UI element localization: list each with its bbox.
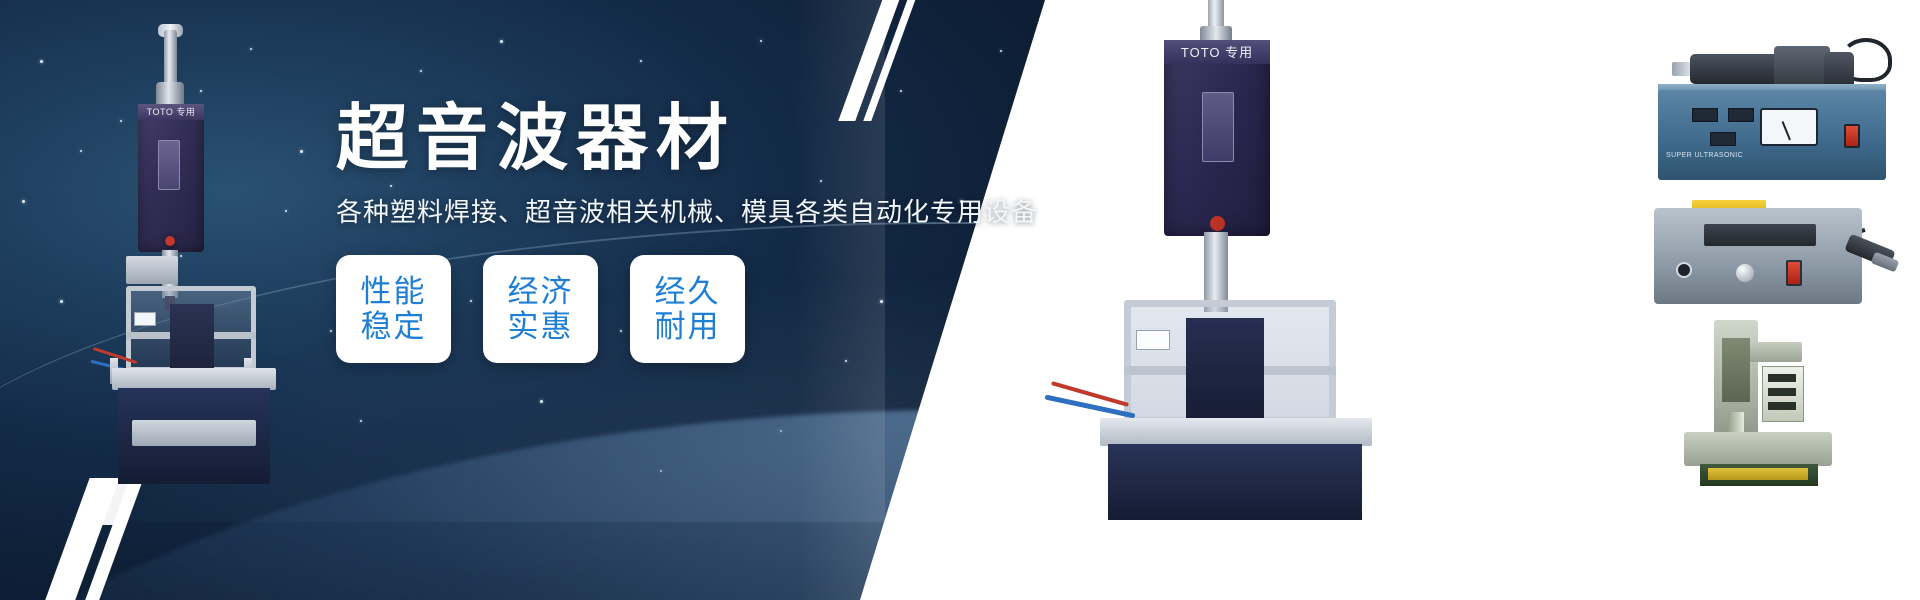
upper-fixture — [126, 256, 178, 284]
feature-badge-group: 性能 稳定 经济 实惠 经久 耐用 — [336, 255, 1036, 363]
transducer-rear — [1824, 52, 1854, 88]
badge-line-1: 经济 — [508, 274, 574, 309]
panel-sticker — [134, 312, 156, 326]
machine-table — [1100, 418, 1372, 446]
machine-brand-label: TOTO 专用 — [1168, 44, 1266, 62]
connector-port — [1676, 262, 1692, 278]
hand-gun-tip — [1871, 252, 1900, 273]
power-switch — [1786, 260, 1802, 286]
badge-line-1: 性能 — [361, 274, 427, 309]
front-display-panel — [1704, 224, 1816, 246]
switch-bank — [1710, 132, 1736, 146]
machine-arm — [1750, 342, 1802, 362]
feature-badge-economy[interactable]: 经济 实惠 — [483, 255, 598, 363]
panel-sticker — [1136, 330, 1170, 350]
machine-table — [112, 368, 276, 390]
cylinder-rod — [164, 30, 177, 90]
power-switch — [1844, 124, 1860, 148]
nameplate — [1202, 92, 1234, 162]
panel-switch — [1768, 388, 1796, 396]
cabinet-front-panel — [132, 420, 256, 446]
banner-subtitle: 各种塑料焊接、超音波相关机械、模具各类自动化专用设备 — [336, 192, 1036, 229]
base-yellow-stripe — [1708, 468, 1808, 480]
feature-badge-performance[interactable]: 性能 稳定 — [336, 255, 451, 363]
banner-copy-block: 超音波器材 各种塑料焊接、超音波相关机械、模具各类自动化专用设备 性能 稳定 经… — [336, 103, 1036, 363]
work-piece-block — [170, 304, 214, 376]
badge-line-1: 经久 — [655, 274, 721, 309]
generator-panel-label: SUPER ULTRASONIC — [1666, 152, 1866, 162]
product-image-generator: SUPER ULTRASONIC — [1648, 32, 1898, 182]
machine-brand-label: TOTO 专用 — [142, 106, 200, 119]
panel-switch — [1768, 374, 1796, 382]
column-inner-face — [1722, 338, 1750, 402]
switch-bank — [1728, 108, 1754, 122]
badge-line-2: 实惠 — [508, 309, 574, 344]
product-image-left-machine: TOTO 专用 — [84, 24, 284, 484]
panel-switch — [1768, 402, 1796, 410]
badge-line-2: 耐用 — [655, 309, 721, 344]
control-knob — [1736, 264, 1754, 282]
switch-bank — [1692, 108, 1718, 122]
red-indicator-icon — [165, 236, 175, 246]
hero-banner: TOTO 专用 TOTO 专用 — [0, 0, 1920, 600]
nameplate — [158, 140, 180, 190]
welder-housing — [1654, 208, 1862, 304]
feature-badge-durability[interactable]: 经久 耐用 — [630, 255, 745, 363]
red-indicator-icon — [1210, 216, 1225, 231]
banner-title: 超音波器材 — [336, 103, 1036, 176]
product-image-bench-welder — [1640, 180, 1900, 320]
badge-line-2: 稳定 — [361, 309, 427, 344]
analog-meter — [1760, 108, 1818, 146]
work-piece-block — [1186, 318, 1264, 422]
machine-cabinet — [1108, 444, 1362, 520]
product-image-welder-stand — [1650, 320, 1900, 500]
product-image-center-machine: TOTO 专用 — [1090, 0, 1390, 520]
machine-base — [1684, 432, 1832, 466]
transducer-barrel — [1690, 54, 1782, 84]
